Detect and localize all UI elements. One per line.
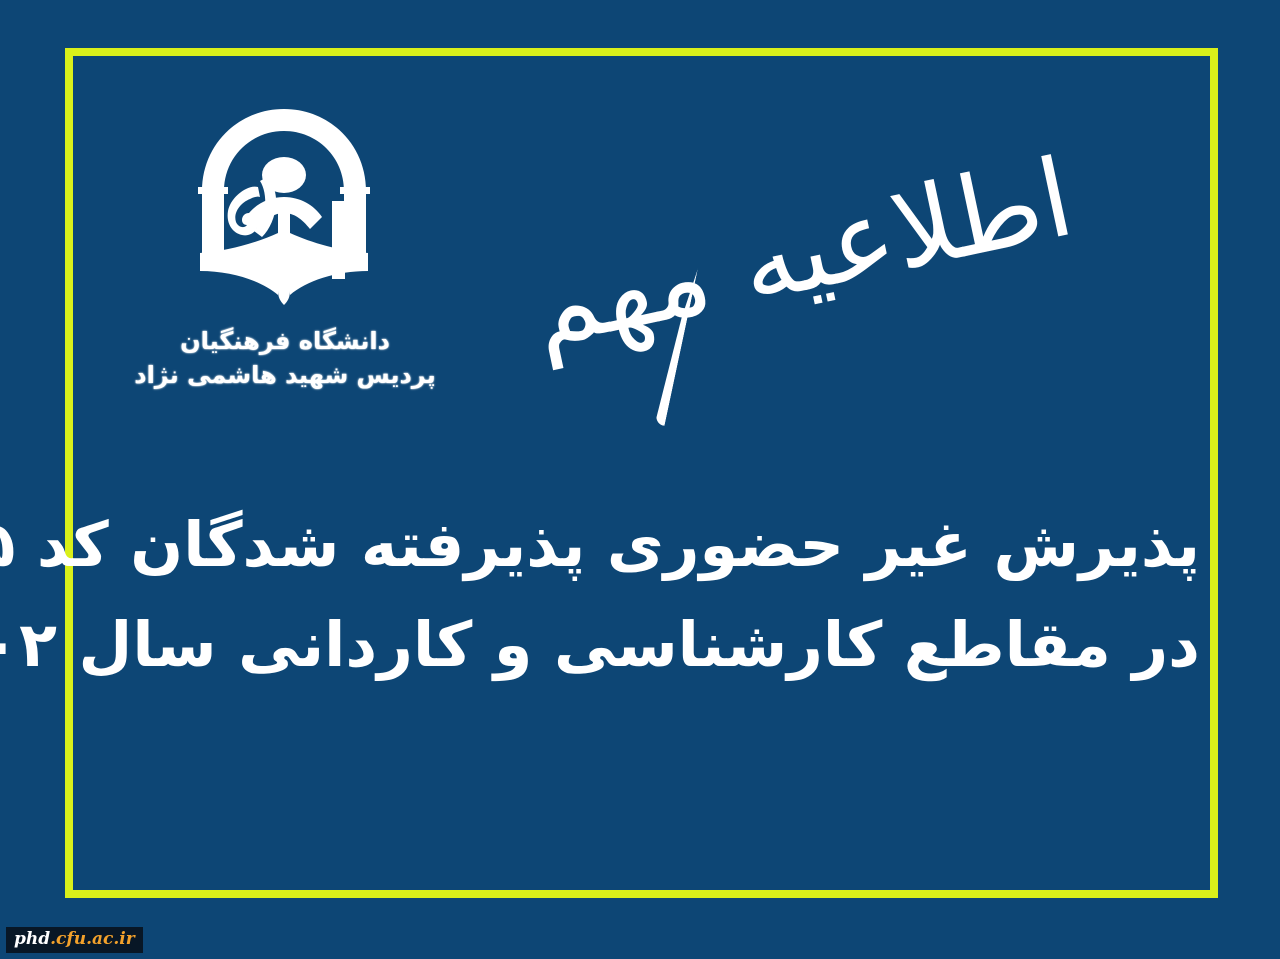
logo-caption-campus-name: پردیس شهید هاشمی نژاد [120, 361, 450, 389]
logo-caption-university-name: دانشگاه فرهنگیان [120, 327, 450, 355]
source-watermark: phd.cfu.ac.ir [6, 927, 143, 953]
announcement-line-1: پذیرش غیر حضوری پذیرفته شدگان کد ۵ و ۷ [80, 495, 1200, 595]
announcement-body: پذیرش غیر حضوری پذیرفته شدگان کد ۵ و ۷ د… [80, 495, 1200, 696]
watermark-suffix: .cfu.ac.ir [50, 929, 135, 949]
headline-block: اطلاعیه مهم [640, 120, 1070, 400]
announcement-line-2: در مقاطع کارشناسی و کاردانی سال ۱۴۰۲ [80, 595, 1200, 695]
university-logo-block: دانشگاه فرهنگیان پردیس شهید هاشمی نژاد [120, 105, 450, 420]
farhangian-university-emblem-icon [172, 105, 397, 320]
poster-headline: اطلاعیه مهم [521, 141, 1082, 366]
watermark-prefix: phd [14, 929, 50, 949]
announcement-poster: دانشگاه فرهنگیان پردیس شهید هاشمی نژاد ا… [0, 0, 1280, 959]
